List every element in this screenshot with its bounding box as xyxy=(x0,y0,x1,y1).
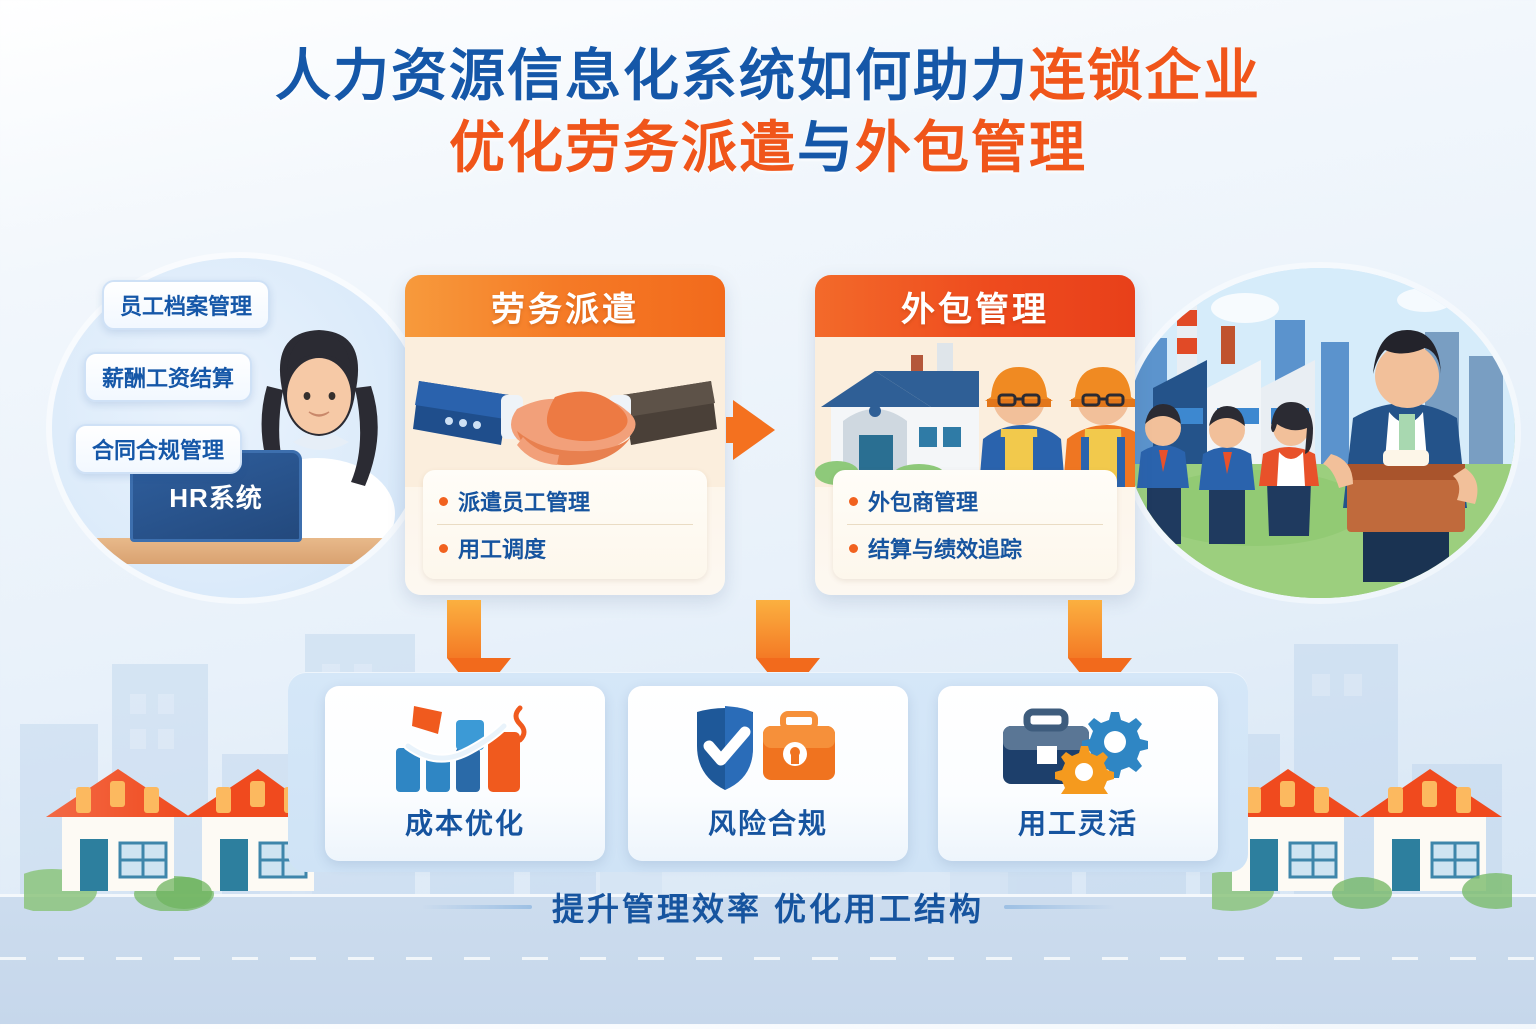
title-line2-orange-a: 优化劳务派遣 xyxy=(449,116,797,179)
hr-chip-payroll[interactable]: 薪酬工资结算 xyxy=(84,352,252,402)
bullet-item[interactable]: 用工调度 xyxy=(437,524,693,571)
bullet-item[interactable]: 结算与绩效追踪 xyxy=(847,524,1103,571)
tagline-rule-right xyxy=(1004,905,1114,909)
briefcase-gears-icon xyxy=(993,702,1163,794)
bullet-item[interactable]: 外包商管理 xyxy=(847,478,1103,524)
panel-labor-dispatch[interactable]: 劳务派遣 派遣员工管理 用工调度 xyxy=(405,275,725,595)
panel-outsourcing-header: 外包管理 xyxy=(815,275,1135,337)
result-card-risk-compliance[interactable]: 风险合规 xyxy=(628,686,908,861)
handshake-icon xyxy=(405,337,725,487)
bullet-dot-icon xyxy=(849,544,858,553)
bullet-label: 外包商管理 xyxy=(868,485,978,517)
factory-team-illustration xyxy=(1125,268,1515,598)
hr-chip-employee-records[interactable]: 员工档案管理 xyxy=(102,280,270,330)
bullet-item[interactable]: 派遣员工管理 xyxy=(437,478,693,524)
result-card-label: 用工灵活 xyxy=(1018,802,1138,842)
bullet-dot-icon xyxy=(439,497,448,506)
panel-outsourcing-bullets: 外包商管理 结算与绩效追踪 xyxy=(833,470,1117,579)
title-line-1: 人力资源信息化系统如何助力连锁企业 xyxy=(0,46,1536,106)
tagline-rule-left xyxy=(422,905,532,909)
hr-chip-contract[interactable]: 合同合规管理 xyxy=(74,424,242,474)
footer-tagline-row: 提升管理效率 优化用工结构 xyxy=(0,884,1536,930)
title-line2-orange-b: 外包管理 xyxy=(855,116,1087,179)
bullet-dot-icon xyxy=(849,497,858,506)
bullet-label: 结算与绩效追踪 xyxy=(868,532,1022,564)
panel-outsourcing[interactable]: 外包管理 xyxy=(815,275,1135,595)
workers-building-icon xyxy=(815,337,1135,487)
title-line1-blue-text: 人力资源信息化系统如何助力 xyxy=(275,44,1029,107)
footer-tagline: 提升管理效率 优化用工结构 xyxy=(552,884,984,930)
title-line1-orange-text: 连锁企业 xyxy=(1029,44,1261,107)
road-dashes xyxy=(0,957,1536,960)
bullet-label: 派遣员工管理 xyxy=(458,485,590,517)
bar-chart-growth-icon xyxy=(380,702,550,794)
title-line2-blue-text: 与 xyxy=(797,116,855,179)
result-card-label: 风险合规 xyxy=(708,802,828,842)
result-card-flexible-staffing[interactable]: 用工灵活 xyxy=(938,686,1218,861)
shield-check-briefcase-icon xyxy=(683,702,853,794)
result-card-cost-optimization[interactable]: 成本优化 xyxy=(325,686,605,861)
hr-laptop-label: HR系统 xyxy=(169,478,263,515)
page-title: 人力资源信息化系统如何助力连锁企业 优化劳务派遣与外包管理 xyxy=(0,46,1536,179)
bullet-label: 用工调度 xyxy=(458,532,546,564)
panel-labor-dispatch-bullets: 派遣员工管理 用工调度 xyxy=(423,470,707,579)
arrow-right-icon xyxy=(733,400,775,460)
result-card-label: 成本优化 xyxy=(405,802,525,842)
panel-labor-dispatch-header: 劳务派遣 xyxy=(405,275,725,337)
bullet-dot-icon xyxy=(439,544,448,553)
title-line-2: 优化劳务派遣与外包管理 xyxy=(0,118,1536,178)
